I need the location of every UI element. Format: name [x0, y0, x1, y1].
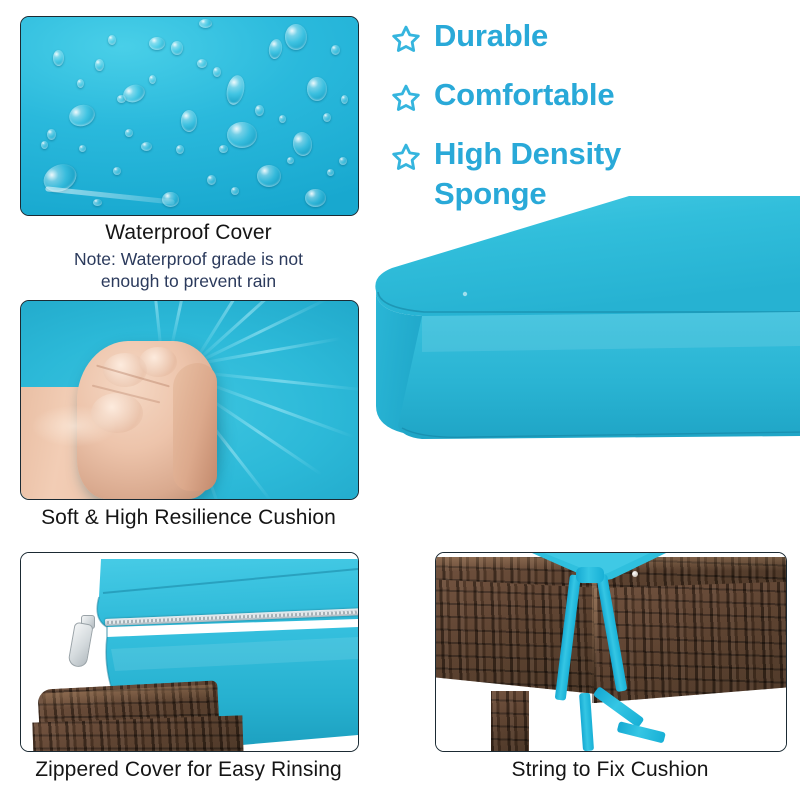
star-outline-icon	[388, 134, 434, 181]
star-outline-icon	[388, 75, 434, 122]
rattan-table-leg	[491, 691, 529, 751]
hero-cushion-image	[362, 196, 800, 456]
cushion-tie-knot	[576, 567, 604, 583]
note-line-1: Note: Waterproof grade is not	[74, 249, 303, 269]
rattan-base-front	[32, 715, 243, 751]
feature-item-high-density-sponge: High Density Sponge	[388, 134, 788, 214]
feature-list: Durable Comfortable High Density Sponge	[388, 16, 788, 226]
skin-highlight	[31, 405, 117, 447]
feature-label: Sponge	[434, 174, 621, 214]
star-outline-icon	[388, 16, 434, 63]
caption-zippered-cover: Zippered Cover for Easy Rinsing	[20, 758, 357, 782]
caption-soft-high-resilience: Soft & High Resilience Cushion	[20, 506, 357, 530]
feature-label: High Density	[434, 134, 621, 174]
feature-item-comfortable: Comfortable	[388, 75, 788, 122]
feature-label: Comfortable	[434, 75, 614, 115]
caption-string-to-fix-cushion: String to Fix Cushion	[435, 758, 785, 782]
feature-item-durable: Durable	[388, 16, 788, 63]
caption-waterproof-cover: Waterproof Cover	[20, 221, 357, 245]
panel-string-to-fix-cushion	[435, 552, 787, 752]
rattan-stud-icon	[632, 571, 638, 577]
feature-label: Durable	[434, 16, 548, 56]
panel-waterproof-cover	[20, 16, 359, 216]
cushion-tie-tail-bottom	[617, 721, 666, 743]
note-waterproof: Note: Waterproof grade is not enough to …	[20, 248, 357, 292]
panel-zippered-cover	[20, 552, 359, 752]
product-infographic: Durable Comfortable High Density Sponge	[0, 0, 800, 800]
panel-soft-high-resilience	[20, 300, 359, 500]
finger-ridge	[173, 363, 217, 491]
hero-cushion-svg	[362, 196, 800, 456]
note-line-2: enough to prevent rain	[101, 271, 276, 291]
